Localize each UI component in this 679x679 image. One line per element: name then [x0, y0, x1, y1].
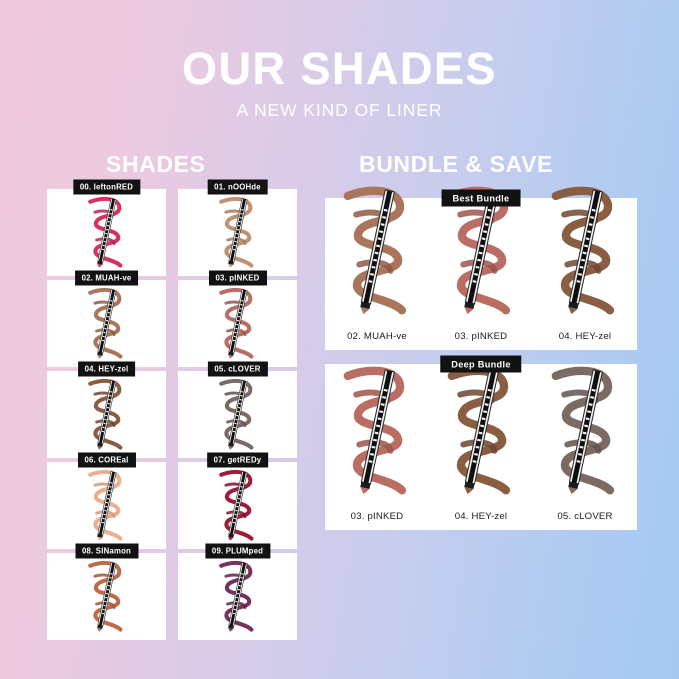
bundle-item[interactable]: 04. HEY-zel [429, 374, 533, 526]
shade-swatch-art [47, 371, 166, 458]
shade-swatch-art [178, 189, 297, 276]
bundle-item-label: 05. cLOVER [557, 511, 612, 522]
bundle-item-label: 02. MUAH-ve [347, 331, 407, 342]
shade-swatch [178, 371, 297, 458]
bundle-item[interactable]: 02. MUAH-ve [325, 208, 429, 346]
shade-swatch [47, 189, 166, 276]
shade-cell-03[interactable]: 03. pINKED [178, 280, 297, 367]
shade-swatch-art [178, 371, 297, 458]
shade-swatch-art [533, 173, 637, 329]
page-header: OUR SHADES A NEW KIND OF LINER [0, 0, 679, 121]
shade-swatch [178, 462, 297, 549]
shade-label: 01. nOOHde [207, 180, 268, 195]
shade-cell-01[interactable]: 01. nOOHde [178, 189, 297, 276]
bundle-swatch [533, 353, 637, 509]
bundle-item[interactable]: 03. pINKED [325, 374, 429, 526]
bundle-item-label: 04. HEY-zel [559, 331, 612, 342]
bundle-item[interactable]: 03. pINKED [429, 208, 533, 346]
shade-cell-05[interactable]: 05. cLOVER [178, 371, 297, 458]
shade-label: 00. leftonRED [73, 180, 140, 195]
shade-cell-00[interactable]: 00. leftonRED [47, 189, 166, 276]
shade-cell-09[interactable]: 09. PLUMped [178, 553, 297, 640]
bundle-swatch [325, 173, 429, 329]
bundle-swatch [429, 353, 533, 509]
shades-grid: 00. leftonRED 01. nOOHde [47, 189, 297, 640]
shade-swatch [178, 280, 297, 367]
shade-label: 03. pINKED [208, 271, 266, 286]
shade-swatch-art [325, 353, 429, 509]
shade-swatch-art [429, 353, 533, 509]
bundle-items-best: 02. MUAH-ve 03. pINKED [325, 208, 637, 346]
bundle-items-deep: 03. pINKED 04. HEY-zel [325, 374, 637, 526]
shade-swatch [47, 280, 166, 367]
shade-label: 08. SINamon [75, 544, 138, 559]
shade-cell-08[interactable]: 08. SINamon [47, 553, 166, 640]
shade-swatch-art [533, 353, 637, 509]
shade-swatch [178, 553, 297, 640]
bundle-item[interactable]: 05. cLOVER [533, 374, 637, 526]
bundle-item[interactable]: 04. HEY-zel [533, 208, 637, 346]
shade-cell-02[interactable]: 02. MUAH-ve [47, 280, 166, 367]
shade-swatch [47, 462, 166, 549]
shade-cell-06[interactable]: 06. COREal [47, 462, 166, 549]
bundle-item-label: 03. pINKED [351, 511, 404, 522]
shade-label: 05. cLOVER [207, 362, 267, 377]
shade-swatch [47, 371, 166, 458]
shade-swatch-art [47, 280, 166, 367]
shades-section-heading: SHADES [106, 151, 205, 178]
shade-label: 09. PLUMped [205, 544, 270, 559]
page-subtitle: A NEW KIND OF LINER [0, 100, 679, 121]
bundle-tag-best: Best Bundle [442, 190, 521, 207]
bundle-swatch [533, 173, 637, 329]
shade-cell-04[interactable]: 04. HEY-zel [47, 371, 166, 458]
shade-label: 04. HEY-zel [78, 362, 136, 377]
shade-swatch-art [47, 553, 166, 640]
page-title: OUR SHADES [0, 46, 679, 91]
bundle-panel-deep[interactable]: Deep Bundle 03. pINKED [325, 364, 637, 530]
shade-swatch-art [178, 280, 297, 367]
shade-swatch-art [178, 462, 297, 549]
bundle-tag-deep: Deep Bundle [440, 356, 521, 373]
shade-swatch-art [47, 462, 166, 549]
shade-swatch-art [178, 553, 297, 640]
shade-label: 06. COREal [77, 453, 135, 468]
shade-swatch-art [325, 173, 429, 329]
shade-swatch [47, 553, 166, 640]
shade-swatch [178, 189, 297, 276]
shade-swatch-art [47, 189, 166, 276]
shade-label: 02. MUAH-ve [75, 271, 139, 286]
shade-label: 07. getREDy [207, 453, 269, 468]
bundle-panel-best[interactable]: Best Bundle 02. MUAH-ve [325, 198, 637, 350]
bundle-item-label: 03. pINKED [455, 331, 508, 342]
bundle-swatch [325, 353, 429, 509]
bundle-item-label: 04. HEY-zel [455, 511, 508, 522]
shade-cell-07[interactable]: 07. getREDy [178, 462, 297, 549]
